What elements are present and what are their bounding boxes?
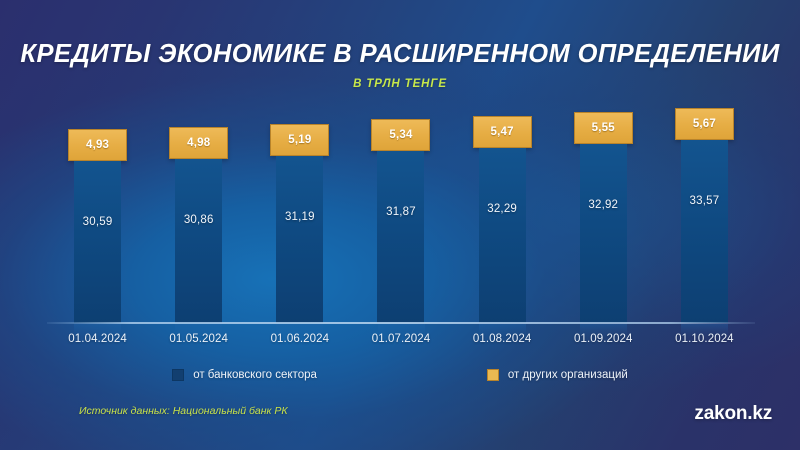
bar-segment-other-orgs[interactable]: 5,19 [270,124,329,156]
bar-column[interactable]: 5,4732,29 [452,104,553,323]
bar-segment-other-orgs[interactable]: 5,67 [675,108,734,140]
bar-value-label-bank-sector: 30,86 [184,214,214,226]
axis-baseline [47,322,755,324]
bar-segment-bank-sector[interactable]: 32,92 [580,144,627,323]
bar-column[interactable]: 5,3431,87 [350,104,451,323]
legend-label-bank-sector: от банковского сектора [193,369,317,381]
bar-column[interactable]: 5,6733,57 [654,104,755,323]
bar-segment-bank-sector[interactable]: 33,57 [681,140,728,323]
x-axis-tick-label: 01.09.2024 [553,333,654,345]
bar-segment-bank-sector[interactable]: 31,19 [276,156,323,323]
x-axis-tick-label: 01.07.2024 [350,333,451,345]
bar-segment-other-orgs[interactable]: 5,34 [371,119,430,151]
chart-subtitle: В ТРЛН ТЕНГЕ [0,69,800,90]
bar-segment-bank-sector[interactable]: 31,87 [377,151,424,323]
bar-segment-other-orgs[interactable]: 4,98 [169,127,228,159]
bar-value-label-other-orgs: 5,47 [491,126,514,138]
bar-segment-bank-sector[interactable]: 30,86 [175,159,222,323]
legend-swatch-blue-icon [172,369,184,381]
x-axis-tick-label: 01.05.2024 [148,333,249,345]
chart-legend: от банковского сектора от других организ… [0,369,800,381]
x-axis-labels: 01.04.202401.05.202401.06.202401.07.2024… [47,333,755,353]
legend-swatch-gold-icon [487,369,499,381]
x-axis-tick-label: 01.10.2024 [654,333,755,345]
bar-value-label-other-orgs: 4,93 [86,139,109,151]
x-axis-tick-label: 01.08.2024 [452,333,553,345]
bar-value-label-bank-sector: 31,87 [386,206,416,218]
legend-item-other-orgs[interactable]: от других организаций [487,369,628,381]
legend-item-bank-sector[interactable]: от банковского сектора [172,369,317,381]
bar-column[interactable]: 5,1931,19 [249,104,350,323]
bar-value-label-bank-sector: 31,19 [285,211,315,223]
bar-value-label-bank-sector: 30,59 [83,216,113,228]
bar-value-label-other-orgs: 5,67 [693,118,716,130]
bar-column[interactable]: 4,9830,86 [148,104,249,323]
bar-value-label-other-orgs: 5,34 [389,129,412,141]
legend-label-other-orgs: от других организаций [508,369,628,381]
bar-segment-bank-sector[interactable]: 32,29 [479,148,526,323]
site-watermark: zakon.kz [694,403,772,425]
bar-column[interactable]: 5,5532,92 [553,104,654,323]
bar-segment-other-orgs[interactable]: 5,55 [574,112,633,144]
bar-segment-bank-sector[interactable]: 30,59 [74,161,121,323]
bar-segment-other-orgs[interactable]: 4,93 [68,129,127,161]
bar-value-label-other-orgs: 5,55 [592,122,615,134]
bar-value-label-bank-sector: 32,92 [588,199,618,211]
x-axis-tick-label: 01.04.2024 [47,333,148,345]
bar-chart-plot-area: 4,9330,594,9830,865,1931,195,3431,875,47… [47,104,755,323]
bar-value-label-bank-sector: 33,57 [690,195,720,207]
data-source-note: Источник данных: Национальный банк РК [79,405,288,417]
bar-segment-other-orgs[interactable]: 5,47 [473,116,532,148]
x-axis-tick-label: 01.06.2024 [249,333,350,345]
chart-header: КРЕДИТЫ ЭКОНОМИКЕ В РАСШИРЕННОМ ОПРЕДЕЛЕ… [0,0,800,90]
bar-value-label-other-orgs: 5,19 [288,134,311,146]
bar-column[interactable]: 4,9330,59 [47,104,148,323]
bar-value-label-other-orgs: 4,98 [187,137,210,149]
page-title: КРЕДИТЫ ЭКОНОМИКЕ В РАСШИРЕННОМ ОПРЕДЕЛЕ… [0,0,800,69]
bar-value-label-bank-sector: 32,29 [487,203,517,215]
